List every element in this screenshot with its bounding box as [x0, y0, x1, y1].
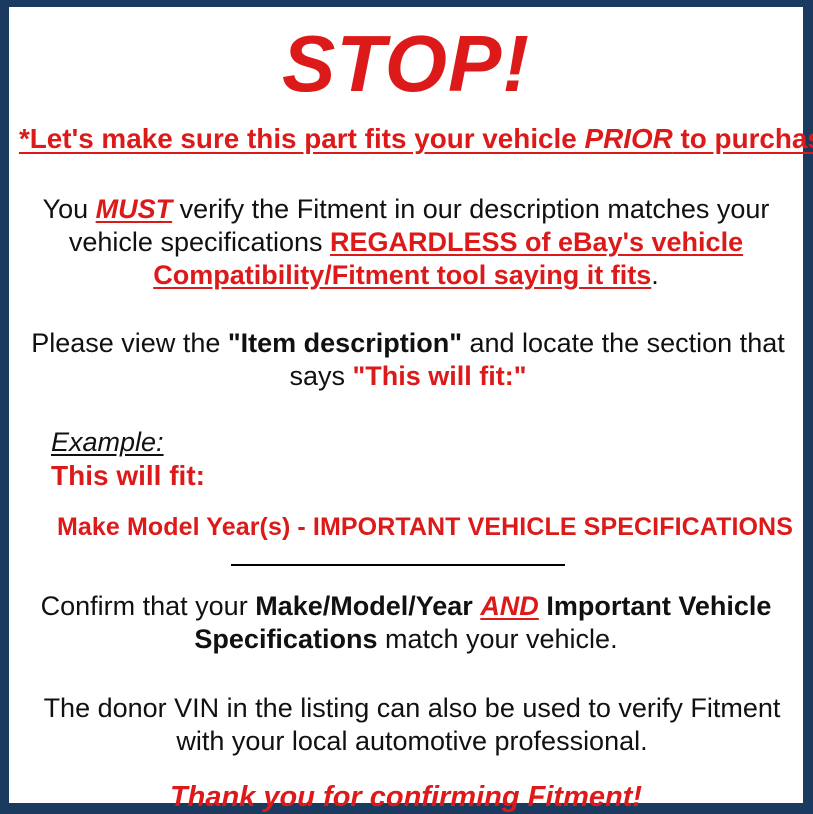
emphasis-and: AND — [480, 591, 539, 621]
divider-wrap — [17, 542, 795, 566]
quoted-this-will-fit: "This will fit:" — [352, 361, 526, 391]
description-text-part1: Please view the — [31, 328, 228, 358]
subheading-text-after: to purchasing* — [673, 123, 813, 154]
confirm-text-part1: Confirm that your — [41, 591, 256, 621]
confirm-text-part2: match your vehicle. — [377, 624, 617, 654]
paragraph-item-description: Please view the "Item description" and l… — [17, 292, 799, 393]
example-this-will-fit: This will fit: — [51, 457, 795, 493]
paragraph-confirm-match: Confirm that your Make/Model/Year AND Im… — [18, 566, 794, 656]
thank-you-message: Thank you for confirming Fitment! — [17, 758, 795, 814]
notice-body: STOP! *Let's make sure this part fits yo… — [9, 7, 803, 803]
fitment-notice-card: STOP! *Let's make sure this part fits yo… — [0, 0, 813, 814]
must-text-part1: You — [43, 194, 96, 224]
emphasis-must: MUST — [96, 194, 173, 224]
must-text-part3: . — [651, 260, 659, 290]
subheading-text-before: *Let's make sure this part fits your veh… — [19, 123, 585, 154]
subheading-banner: *Let's make sure this part fits your veh… — [19, 107, 793, 155]
subheading-emphasis-prior: PRIOR — [585, 123, 673, 154]
paragraph-donor-vin: The donor VIN in the listing can also be… — [17, 656, 807, 758]
bold-make-model-year: Make/Model/Year — [255, 591, 473, 621]
paragraph-verify-fitment: You MUST verify the Fitment in our descr… — [21, 155, 791, 292]
example-vehicle-spec-line: Make Model Year(s) - IMPORTANT VEHICLE S… — [51, 493, 795, 542]
page-title: STOP! — [17, 7, 795, 107]
example-label: Example: — [51, 427, 164, 457]
quoted-item-description: "Item description" — [228, 328, 462, 358]
example-block: Example: This will fit: Make Model Year(… — [17, 393, 795, 542]
